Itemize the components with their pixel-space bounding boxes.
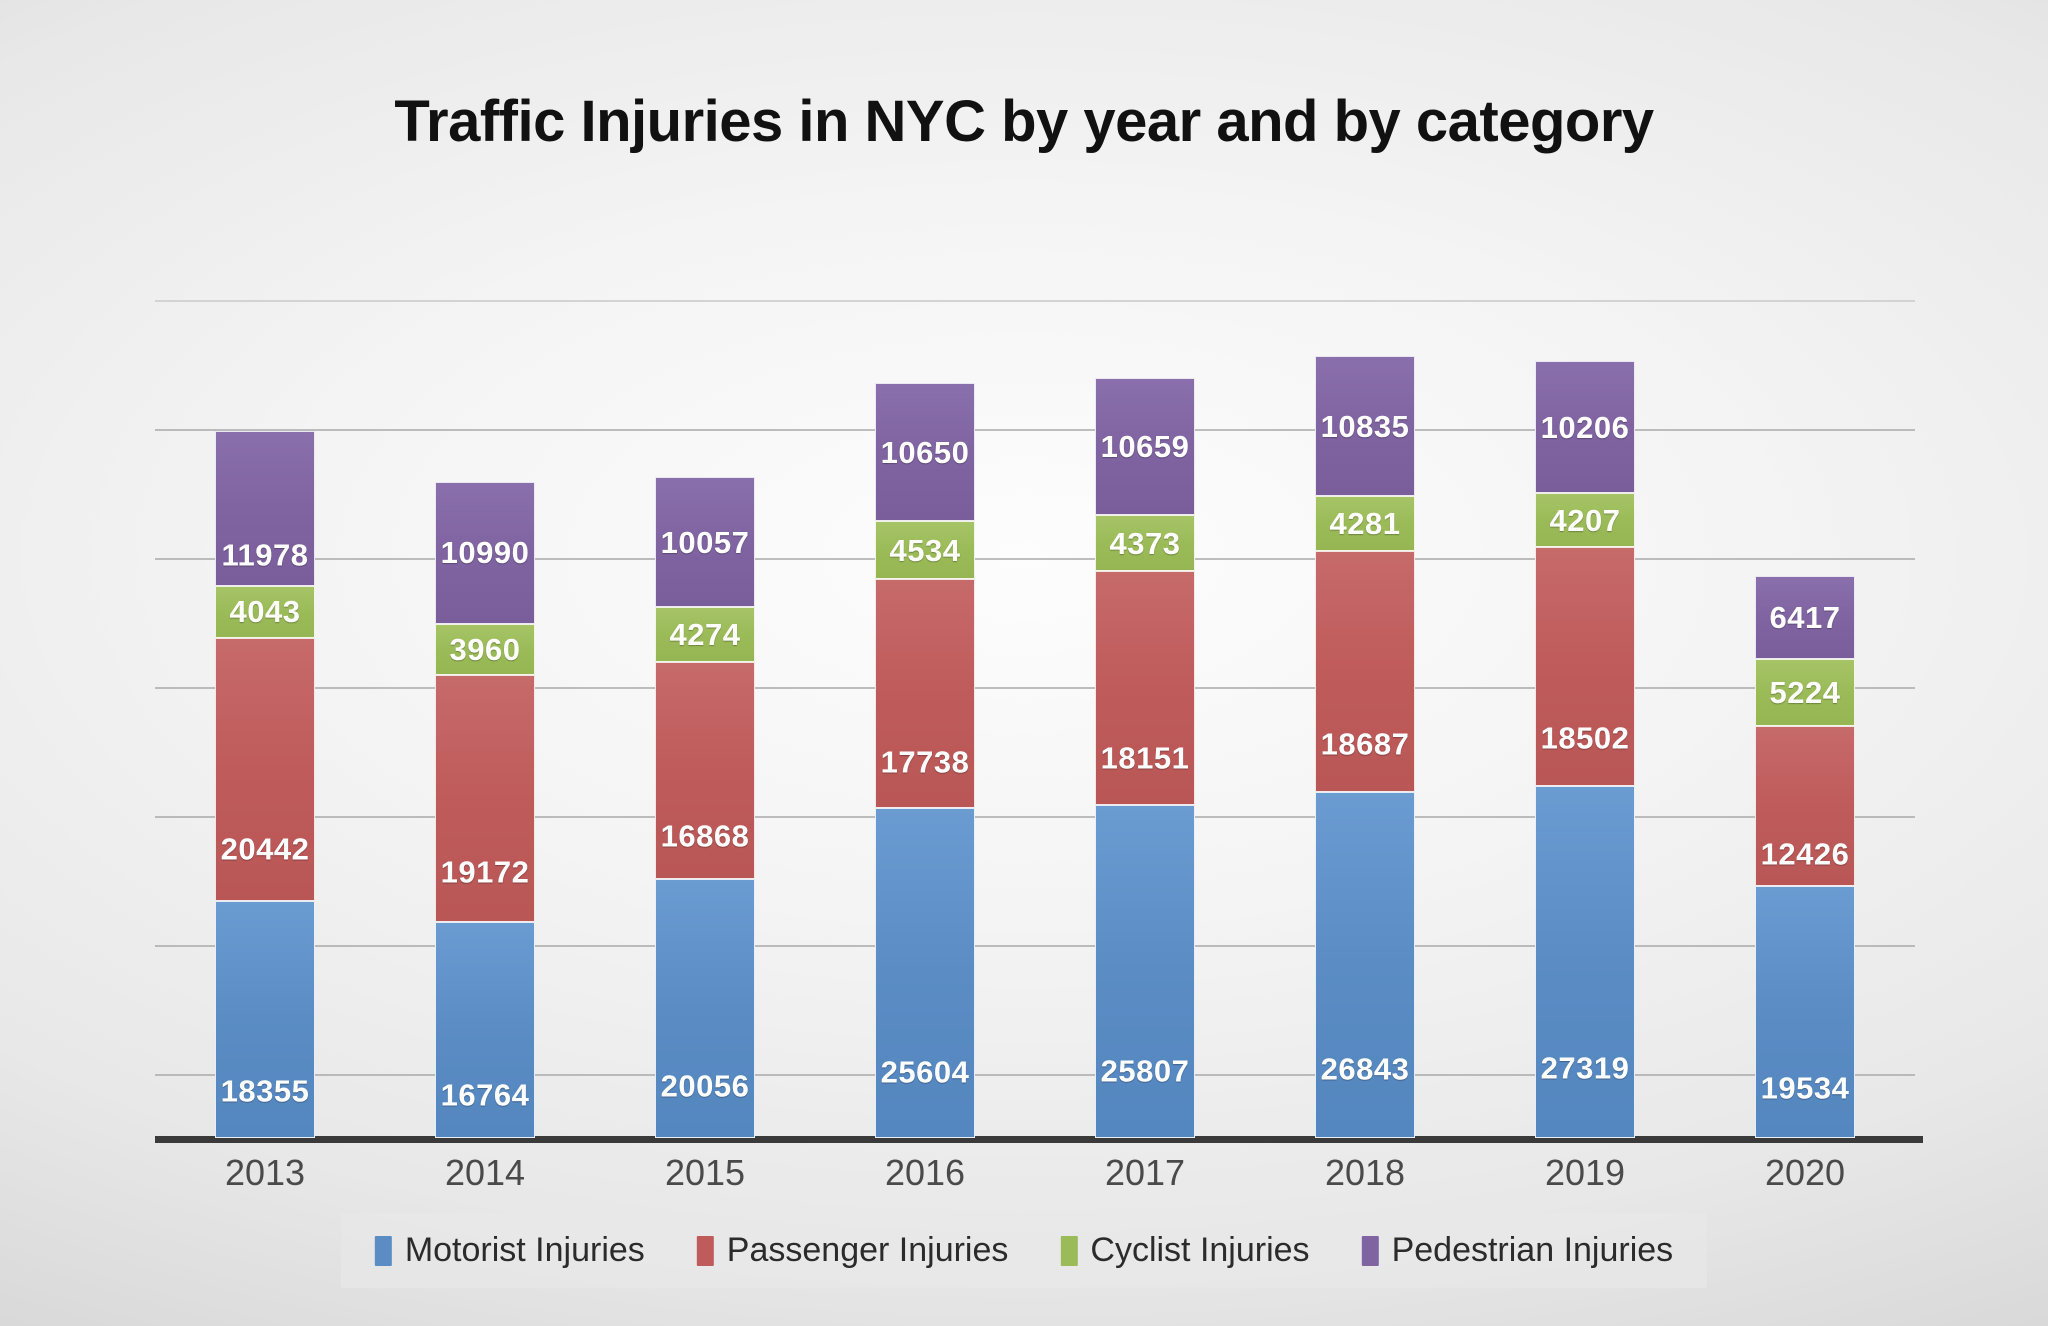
- legend-swatch-icon: [1362, 1236, 1379, 1266]
- bar-segment-passenger[interactable]: 18502: [1535, 547, 1635, 786]
- bar-segment-pedestrian[interactable]: 10057: [655, 477, 755, 607]
- bar-value-label: 20056: [656, 1071, 754, 1102]
- bar-value-label: 10659: [1101, 431, 1190, 462]
- bar-value-label: 27319: [1536, 1052, 1634, 1083]
- bar-group[interactable]: 1020642071850227319: [1475, 300, 1695, 1138]
- bar-segment-passenger[interactable]: 20442: [215, 638, 315, 902]
- bar-segment-cyclist[interactable]: 4534: [875, 521, 975, 579]
- x-tick-label: 2017: [1035, 1152, 1255, 1194]
- bar-value-label: 10990: [441, 537, 530, 568]
- bar-segment-motorist[interactable]: 18355: [215, 901, 315, 1138]
- page-title: Traffic Injuries in NYC by year and by c…: [0, 88, 2048, 155]
- x-tick-label: 2019: [1475, 1152, 1695, 1194]
- bar-value-label: 3960: [450, 634, 521, 665]
- bar-value-label: 4534: [890, 535, 961, 566]
- bar-value-label: 4207: [1550, 505, 1621, 536]
- bar-stack[interactable]: 1197840432044218355: [215, 431, 315, 1138]
- x-tick-label: 2015: [595, 1152, 815, 1194]
- bar-value-label: 11978: [216, 539, 314, 570]
- legend-item-cyclist[interactable]: Cyclist Injuries: [1060, 1231, 1309, 1270]
- x-tick-label: 2013: [155, 1152, 375, 1194]
- bar-segment-motorist[interactable]: 19534: [1755, 886, 1855, 1138]
- bar-stack[interactable]: 1065045341773825604: [875, 383, 975, 1138]
- bar-segment-pedestrian[interactable]: 10990: [435, 482, 535, 624]
- x-tick-label: 2016: [815, 1152, 1035, 1194]
- bar-segment-cyclist[interactable]: 4207: [1535, 493, 1635, 547]
- legend-label: Motorist Injuries: [405, 1231, 645, 1270]
- bar-segment-cyclist[interactable]: 4274: [655, 607, 755, 662]
- bar-value-label: 6417: [1770, 602, 1841, 633]
- bar-value-label: 4373: [1110, 528, 1181, 559]
- x-axis-tick-labels: 20132014201520162017201820192020: [155, 1152, 1915, 1194]
- bar-segment-pedestrian[interactable]: 11978: [215, 431, 315, 585]
- bar-segment-passenger[interactable]: 17738: [875, 579, 975, 808]
- bar-segment-motorist[interactable]: 27319: [1535, 786, 1635, 1138]
- bar-segment-cyclist[interactable]: 4373: [1095, 515, 1195, 571]
- bar-value-label: 16868: [656, 820, 754, 851]
- bar-group[interactable]: 1065943731815125807: [1035, 300, 1255, 1138]
- bar-group[interactable]: 641752241242619534: [1695, 300, 1915, 1138]
- bar-value-label: 19172: [436, 857, 534, 888]
- bar-segment-pedestrian[interactable]: 10659: [1095, 378, 1195, 515]
- bar-stack[interactable]: 641752241242619534: [1755, 576, 1855, 1138]
- bar-group[interactable]: 1065045341773825604: [815, 300, 1035, 1138]
- bar-segment-passenger[interactable]: 16868: [655, 662, 755, 879]
- bar-segment-passenger[interactable]: 18687: [1315, 551, 1415, 792]
- legend-item-passenger[interactable]: Passenger Injuries: [697, 1231, 1009, 1270]
- bar-segment-cyclist[interactable]: 4043: [215, 586, 315, 638]
- bar-value-label: 10206: [1541, 412, 1630, 443]
- bar-value-label: 20442: [216, 833, 314, 864]
- bar-stack[interactable]: 1005742741686820056: [655, 477, 755, 1138]
- bar-value-label: 19534: [1756, 1072, 1854, 1103]
- bar-stack[interactable]: 1099039601917216764: [435, 482, 535, 1138]
- bar-segment-pedestrian[interactable]: 6417: [1755, 576, 1855, 659]
- bar-value-label: 18502: [1536, 723, 1634, 754]
- bar-value-label: 26843: [1316, 1053, 1414, 1084]
- bar-segment-motorist[interactable]: 16764: [435, 922, 535, 1138]
- bar-segment-pedestrian[interactable]: 10650: [875, 383, 975, 520]
- legend-swatch-icon: [375, 1236, 392, 1266]
- x-tick-label: 2020: [1695, 1152, 1915, 1194]
- legend-swatch-icon: [1060, 1236, 1077, 1266]
- bar-segment-passenger[interactable]: 19172: [435, 675, 535, 922]
- legend-label: Pedestrian Injuries: [1392, 1231, 1674, 1270]
- legend-swatch-icon: [697, 1236, 714, 1266]
- bar-group[interactable]: 1083542811868726843: [1255, 300, 1475, 1138]
- bar-value-label: 18151: [1096, 743, 1194, 774]
- legend-item-motorist[interactable]: Motorist Injuries: [375, 1231, 645, 1270]
- bar-stack[interactable]: 1020642071850227319: [1535, 361, 1635, 1138]
- legend-label: Passenger Injuries: [727, 1231, 1009, 1270]
- bar-value-label: 25807: [1096, 1056, 1194, 1087]
- bar-segment-motorist[interactable]: 26843: [1315, 792, 1415, 1138]
- bar-segment-motorist[interactable]: 20056: [655, 879, 755, 1138]
- x-tick-label: 2018: [1255, 1152, 1475, 1194]
- bar-value-label: 17738: [876, 747, 974, 778]
- bar-segment-cyclist[interactable]: 3960: [435, 624, 535, 675]
- bar-segment-motorist[interactable]: 25807: [1095, 805, 1195, 1138]
- bar-stack[interactable]: 1065943731815125807: [1095, 378, 1195, 1138]
- bar-segment-pedestrian[interactable]: 10835: [1315, 356, 1415, 496]
- bar-value-label: 4281: [1330, 508, 1401, 539]
- bar-group[interactable]: 1005742741686820056: [595, 300, 815, 1138]
- bar-value-label: 4274: [670, 619, 741, 650]
- bar-value-label: 16764: [436, 1079, 534, 1110]
- bar-segment-passenger[interactable]: 18151: [1095, 571, 1195, 805]
- bar-value-label: 18687: [1316, 728, 1414, 759]
- bar-value-label: 10650: [881, 437, 970, 468]
- x-tick-label: 2014: [375, 1152, 595, 1194]
- legend-label: Cyclist Injuries: [1090, 1231, 1309, 1270]
- bar-group[interactable]: 1197840432044218355: [155, 300, 375, 1138]
- chart-legend: Motorist InjuriesPassenger InjuriesCycli…: [341, 1213, 1707, 1288]
- bar-value-label: 10057: [661, 527, 750, 558]
- bar-segment-pedestrian[interactable]: 10206: [1535, 361, 1635, 493]
- bar-stack[interactable]: 1083542811868726843: [1315, 356, 1415, 1138]
- bar-series-container: 1197840432044218355109903960191721676410…: [155, 300, 1915, 1138]
- bar-group[interactable]: 1099039601917216764: [375, 300, 595, 1138]
- bar-segment-cyclist[interactable]: 4281: [1315, 496, 1415, 551]
- legend-item-pedestrian[interactable]: Pedestrian Injuries: [1362, 1231, 1674, 1270]
- bar-value-label: 10835: [1321, 411, 1410, 442]
- bar-value-label: 5224: [1770, 677, 1841, 708]
- bar-value-label: 12426: [1756, 839, 1854, 870]
- bar-value-label: 18355: [216, 1075, 314, 1106]
- bar-segment-motorist[interactable]: 25604: [875, 808, 975, 1138]
- bar-value-label: 25604: [876, 1056, 974, 1087]
- bar-segment-cyclist[interactable]: 5224: [1755, 659, 1855, 726]
- bar-segment-passenger[interactable]: 12426: [1755, 726, 1855, 886]
- bar-value-label: 4043: [230, 596, 301, 627]
